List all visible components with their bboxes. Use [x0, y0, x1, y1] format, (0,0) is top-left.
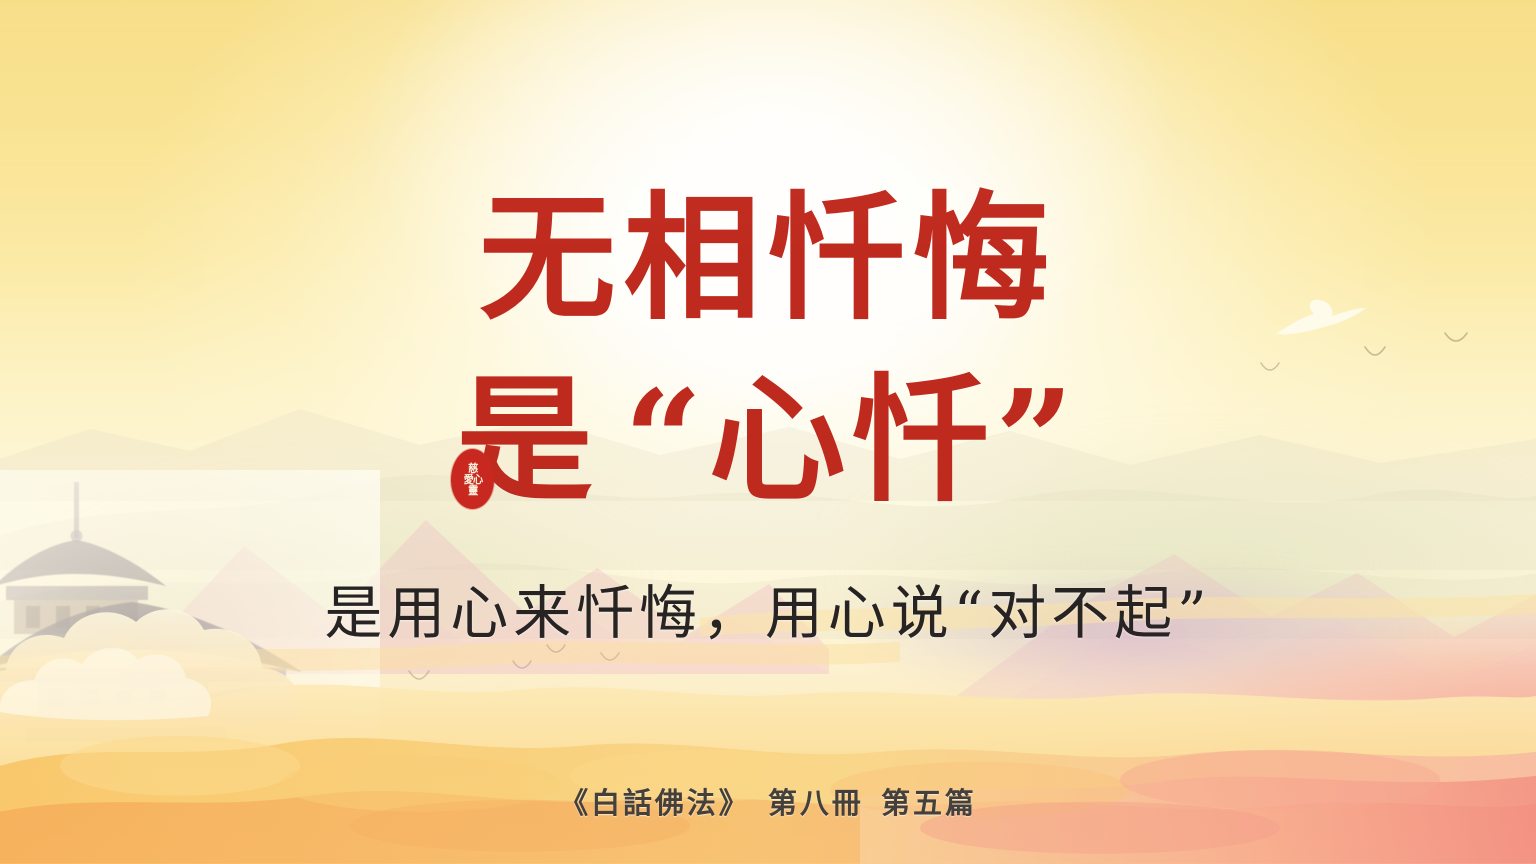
poster-content: 无相忏悔 是“心忏” 慈 愛心 靈 是用心来忏悔，用心说“对不起” 《白話佛法》…: [0, 0, 1536, 864]
title-line-2: 是“心忏”: [0, 368, 1536, 513]
footer-volume: 第八冊: [768, 786, 864, 820]
subtitle: 是用心来忏悔，用心说“对不起”: [0, 566, 1536, 650]
poster-canvas: 无相忏悔 是“心忏” 慈 愛心 靈 是用心来忏悔，用心说“对不起” 《白話佛法》…: [0, 0, 1536, 864]
title-line-2-keyword: 心忏: [709, 360, 995, 521]
quote-close: ”: [995, 360, 1080, 521]
footer-source: 《白話佛法》: [559, 786, 750, 820]
footer-chapter: 第五篇: [881, 786, 977, 820]
seal-text: 慈 愛心 靈: [463, 463, 481, 496]
seal-stamp-icon: 慈 愛心 靈: [451, 449, 494, 509]
title-line-1: 无相忏悔: [0, 186, 1536, 331]
quote-open: “: [624, 360, 709, 521]
footer-citation: 《白話佛法》第八冊第五篇: [0, 780, 1536, 822]
seal-row-3: 靈: [463, 485, 481, 496]
